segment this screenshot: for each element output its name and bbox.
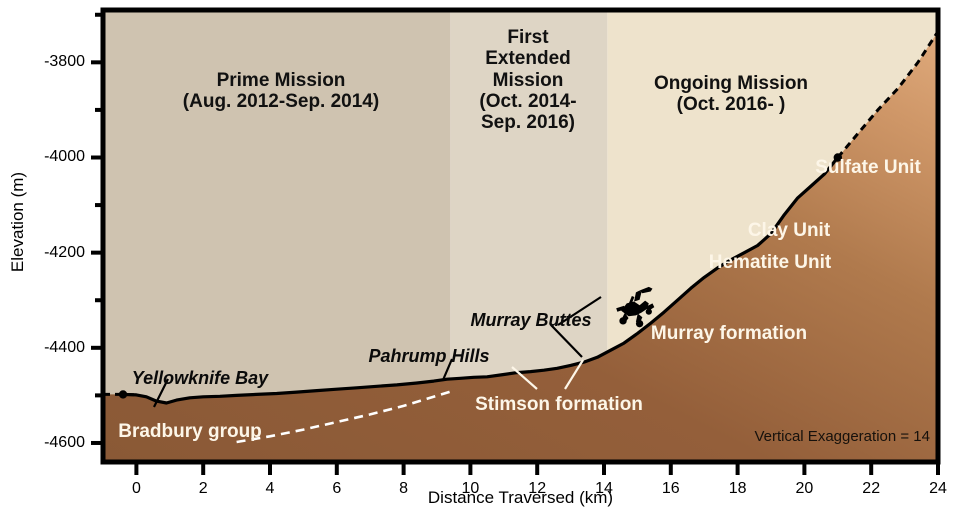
- x-tick-label: 20: [795, 480, 813, 498]
- y-tick-label: -4600: [0, 434, 85, 452]
- x-tick-label: 10: [461, 480, 479, 498]
- x-tick-label: 4: [266, 480, 275, 498]
- x-tick-label: 6: [332, 480, 341, 498]
- x-tick-label: 24: [929, 480, 947, 498]
- y-tick-label: -4200: [0, 244, 85, 262]
- x-tick-label: 14: [595, 480, 613, 498]
- elevation-profile-figure: Elevation (m) Distance Traversed (km) -3…: [0, 0, 960, 518]
- y-tick-label: -4400: [0, 339, 85, 357]
- x-tick-label: 16: [662, 480, 680, 498]
- y-tick-label: -3800: [0, 53, 85, 71]
- x-tick-label: 18: [729, 480, 747, 498]
- current-position-marker: [834, 153, 842, 161]
- x-tick-label: 22: [862, 480, 880, 498]
- x-tick-label: 8: [399, 480, 408, 498]
- y-tick-label: -4000: [0, 148, 85, 166]
- landing-site-marker: [119, 390, 127, 398]
- x-tick-label: 0: [132, 480, 141, 498]
- x-tick-label: 12: [528, 480, 546, 498]
- x-tick-label: 2: [199, 480, 208, 498]
- chart-canvas: [0, 0, 960, 518]
